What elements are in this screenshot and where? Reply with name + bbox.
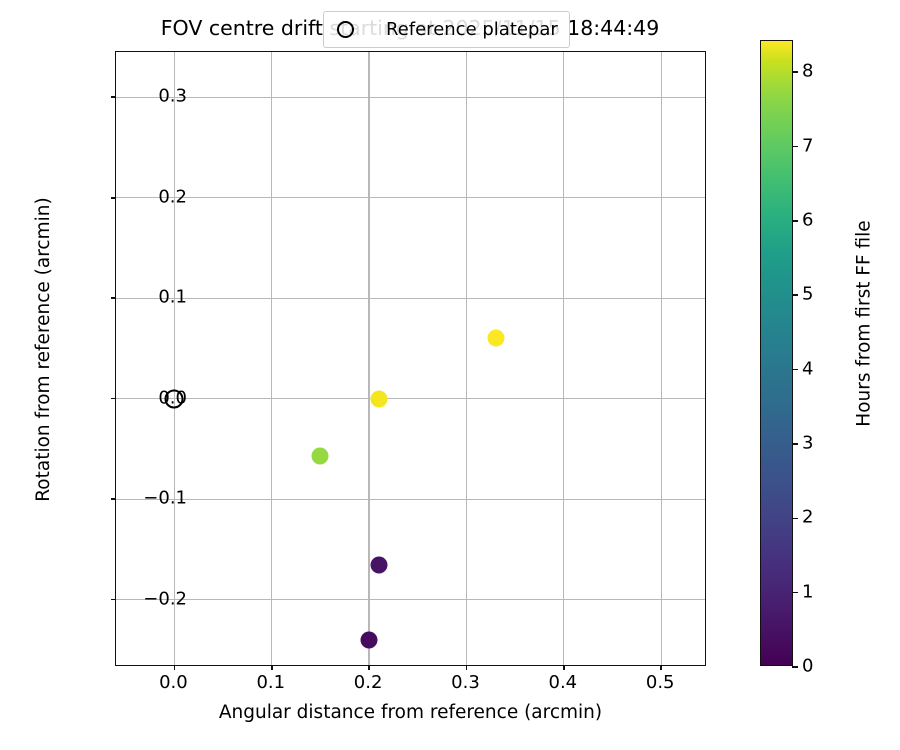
gridline-vertical xyxy=(661,52,662,665)
colorbar-tick xyxy=(792,71,798,73)
x-axis-tick-label: 0.0 xyxy=(159,672,188,693)
colorbar-tick xyxy=(792,518,798,520)
gridline-horizontal xyxy=(116,599,705,600)
colorbar-tick-label: 7 xyxy=(802,135,813,156)
colorbar-tick-label: 5 xyxy=(802,284,813,305)
data-point xyxy=(487,330,504,347)
legend-label: Reference platepar xyxy=(386,19,558,40)
data-point xyxy=(312,447,329,464)
legend-marker-reference-platepar xyxy=(337,21,354,38)
gridline-horizontal xyxy=(116,197,705,198)
x-axis-tick xyxy=(466,665,468,670)
colorbar-tick xyxy=(792,443,798,445)
colorbar-tick-label: 6 xyxy=(802,209,813,230)
y-axis-tick-label: −0.1 xyxy=(143,488,187,509)
gridline-horizontal xyxy=(116,298,705,299)
plot-axes xyxy=(115,51,706,666)
x-axis-tick-label: 0.4 xyxy=(549,672,578,693)
gridline-horizontal xyxy=(116,97,705,98)
data-point xyxy=(370,390,387,407)
y-axis-tick xyxy=(111,599,116,601)
colorbar-tick xyxy=(792,369,798,371)
colorbar-tick-label: 3 xyxy=(802,432,813,453)
y-axis-tick xyxy=(111,197,116,199)
gridline-vertical xyxy=(368,52,369,665)
x-axis-tick xyxy=(368,665,370,670)
x-axis-tick-label: 0.3 xyxy=(451,672,480,693)
x-axis-tick-label: 0.1 xyxy=(256,672,285,693)
gridline-vertical xyxy=(271,52,272,665)
x-axis-label: Angular distance from reference (arcmin) xyxy=(115,702,706,723)
legend[interactable]: Reference platepar xyxy=(323,11,570,48)
colorbar-tick-label: 2 xyxy=(802,507,813,528)
gridline-vertical xyxy=(466,52,467,665)
y-axis-tick xyxy=(111,297,116,299)
gridline-horizontal xyxy=(116,398,705,399)
x-axis-tick-label: 0.5 xyxy=(646,672,675,693)
y-axis-tick-label: 0.2 xyxy=(158,186,187,207)
colorbar-tick-label: 0 xyxy=(802,656,813,677)
x-axis-tick xyxy=(271,665,273,670)
y-axis-tick-label: 0.3 xyxy=(158,86,187,107)
colorbar-tick xyxy=(792,220,798,222)
y-axis-tick xyxy=(111,498,116,500)
y-axis-tick-label: 0.0 xyxy=(158,387,187,408)
plot-area xyxy=(116,52,705,665)
colorbar-tick xyxy=(792,146,798,148)
x-axis-tick xyxy=(174,665,176,670)
colorbar: 012345678 xyxy=(760,40,793,666)
x-axis-tick xyxy=(563,665,565,670)
y-axis-tick-label: −0.2 xyxy=(143,588,187,609)
y-axis-tick xyxy=(111,398,116,400)
data-point xyxy=(361,631,378,648)
data-point xyxy=(370,556,387,573)
colorbar-tick-label: 4 xyxy=(802,358,813,379)
figure-canvas: FOV centre drift starting at 2025/11/15 … xyxy=(0,0,900,750)
colorbar-tick xyxy=(792,294,798,296)
colorbar-tick-label: 1 xyxy=(802,581,813,602)
gridline-vertical xyxy=(174,52,175,665)
colorbar-gradient xyxy=(760,40,793,666)
y-axis-tick xyxy=(111,96,116,98)
x-axis-tick-label: 0.2 xyxy=(354,672,383,693)
gridline-horizontal xyxy=(116,499,705,500)
colorbar-tick xyxy=(792,666,798,668)
gridline-vertical xyxy=(563,52,564,665)
colorbar-tick-label: 8 xyxy=(802,61,813,82)
y-axis-tick-label: 0.1 xyxy=(158,287,187,308)
colorbar-label: Hours from first FF file xyxy=(854,11,875,637)
y-axis-label: Rotation from reference (arcmin) xyxy=(33,42,54,657)
x-axis-tick xyxy=(660,665,662,670)
colorbar-tick xyxy=(792,592,798,594)
